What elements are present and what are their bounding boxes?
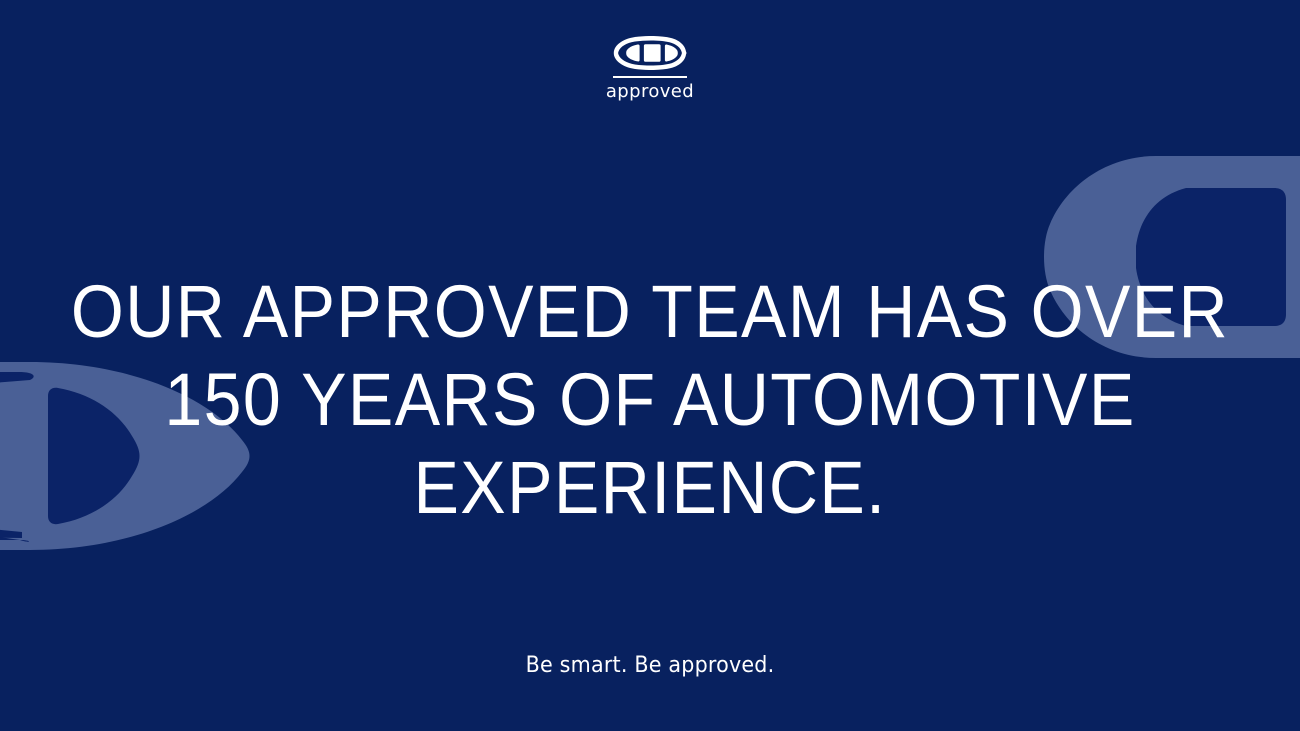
headline-line-1: OUR APPROVED TEAM HAS OVER [52, 268, 1248, 356]
brand-wordmark: approved [606, 83, 694, 101]
brand-logo: approved [0, 36, 1300, 101]
brand-divider [613, 76, 687, 78]
headline-line-2: 150 YEARS OF AUTOMOTIVE [52, 356, 1248, 444]
car-top-view-icon [613, 36, 687, 70]
tagline: Be smart. Be approved. [39, 652, 1261, 680]
page-title: OUR APPROVED TEAM HAS OVER 150 YEARS OF … [52, 268, 1248, 532]
promotional-banner: approved OUR APPROVED TEAM HAS OVER 150 … [0, 0, 1300, 731]
headline-line-3: EXPERIENCE. [52, 444, 1248, 532]
